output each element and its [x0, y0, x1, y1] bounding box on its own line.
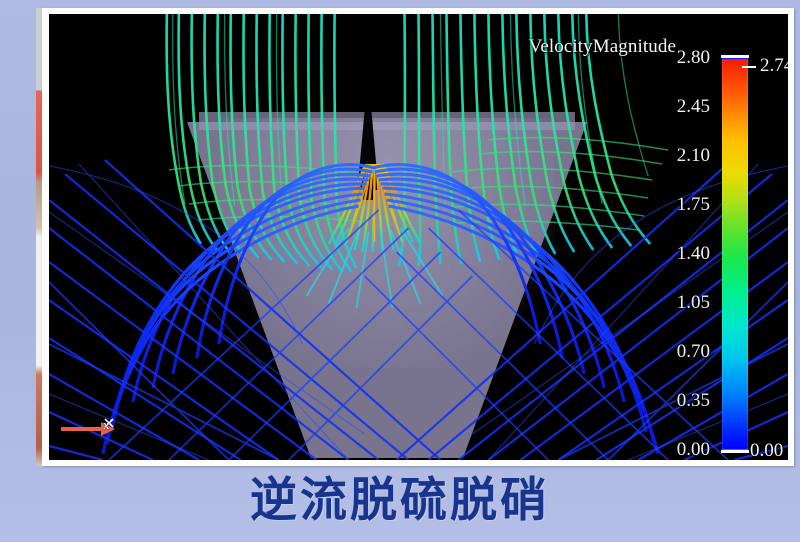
colorbar-max-ticklet: [742, 66, 756, 68]
colorbar-tick-label: 0.35: [677, 390, 710, 412]
colorbar-group[interactable]: 2.74 0.00: [722, 58, 752, 450]
colorbar-tick-label: 1.75: [677, 194, 710, 216]
orientation-axis-widget: x: [59, 416, 121, 442]
colorbar-tick-label: 0.70: [677, 341, 710, 363]
axis-label-x: x: [103, 417, 110, 433]
figure-frame: VelocityMagnitude 2.80 2.45 2.10 1.75 1.…: [42, 8, 794, 466]
colorbar-tick-label: 2.45: [677, 96, 710, 118]
colorbar-tick-labels: 2.80 2.45 2.10 1.75 1.40 1.05 0.70 0.35 …: [646, 58, 710, 450]
colorbar-tick-label: 2.80: [677, 47, 710, 69]
colorbar-tick-label: 1.40: [677, 243, 710, 265]
axis-arrow-icon: [59, 416, 121, 442]
colorbar-top-cap: [721, 55, 749, 58]
colorbar-min-label: 0.00: [750, 440, 783, 460]
cfd-render-canvas[interactable]: VelocityMagnitude 2.80 2.45 2.10 1.75 1.…: [49, 14, 788, 460]
colorbar-tick-label: 1.05: [677, 292, 710, 314]
colorbar-tick-label: 2.10: [677, 145, 710, 167]
vessel-haze: [219, 118, 555, 368]
colorbar-tick-label: 0.00: [677, 439, 710, 460]
slide-caption: 逆流脱硫脱硝: [0, 474, 800, 528]
slide-canvas: VelocityMagnitude 2.80 2.45 2.10 1.75 1.…: [0, 0, 800, 542]
colorbar-max-label: 2.74: [760, 55, 788, 77]
colorbar-bottom-cap: [721, 450, 749, 453]
colorbar-title: VelocityMagnitude: [529, 36, 676, 58]
colorbar-gradient[interactable]: [722, 58, 748, 450]
nozzle-stem: [363, 174, 373, 200]
